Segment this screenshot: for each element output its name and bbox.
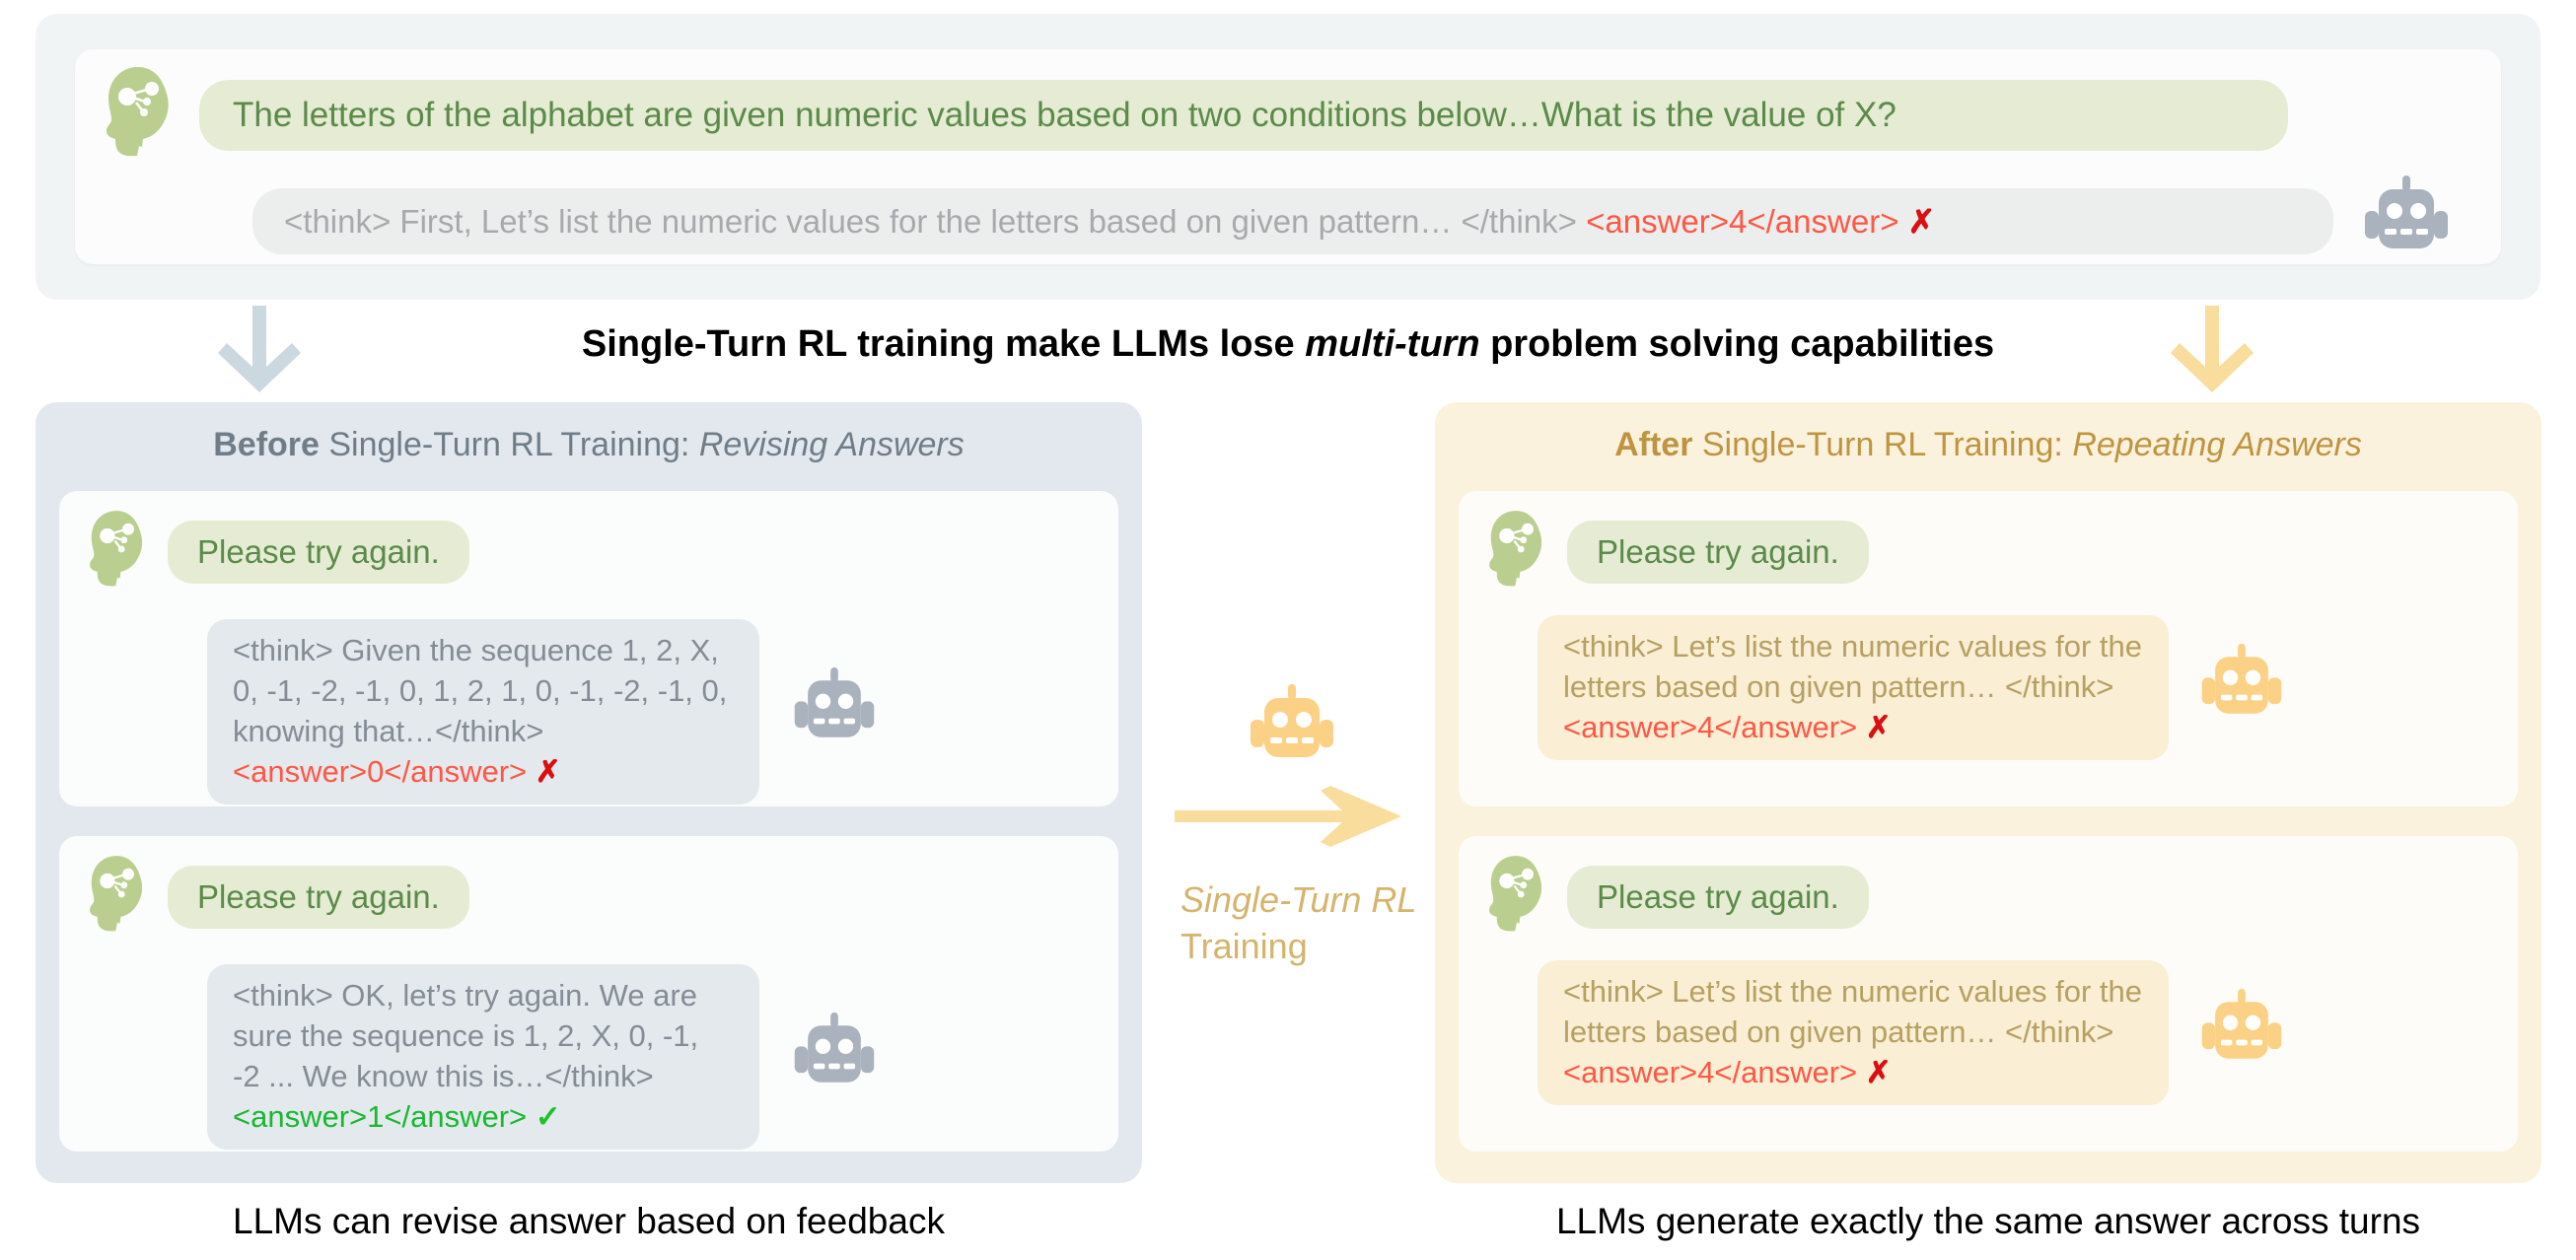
panel-after-title-italic: Repeating Answers — [2072, 426, 2362, 463]
conversation-card: Please try again. <think> Let’s list the… — [1459, 836, 2518, 1152]
bot-think: <think> Let’s list the numeric values fo… — [1563, 629, 2142, 704]
arrow-right-icon — [1159, 786, 1425, 852]
robot-icon — [2359, 172, 2454, 271]
head-network-icon — [1484, 509, 1549, 595]
bot-turn: <think> Let’s list the numeric values fo… — [1538, 615, 2287, 760]
top-user-turn: The letters of the alphabet are given nu… — [101, 65, 2288, 165]
banner-emphasis: multi-turn — [1305, 323, 1479, 365]
training-label: Single-Turn RL Training — [1159, 877, 1425, 970]
bot-message: <think> Given the sequence 1, 2, X, 0, -… — [207, 619, 759, 805]
bot-answer: <answer>4</answer> — [1563, 710, 1857, 744]
robot-icon — [789, 1009, 880, 1104]
robot-icon — [2196, 985, 2287, 1081]
bot-message: <think> Let’s list the numeric values fo… — [1538, 960, 2169, 1105]
user-turn: Please try again. — [1484, 854, 1869, 940]
wrong-mark-icon: ✗ — [1866, 1055, 1892, 1089]
panel-after-title: After Single-Turn RL Training: Repeating… — [1435, 426, 2541, 464]
head-network-icon — [85, 854, 150, 940]
conversation-card: Please try again. <think> Given the sequ… — [59, 491, 1118, 806]
wrong-mark-icon: ✗ — [536, 754, 561, 789]
robot-icon — [789, 664, 880, 759]
banner-part2: problem solving capabilities — [1480, 323, 1995, 365]
bot-message: <think> Let’s list the numeric values fo… — [1538, 615, 2169, 760]
top-user-message: The letters of the alphabet are given nu… — [199, 80, 2288, 151]
user-message: Please try again. — [168, 521, 469, 584]
user-message: Please try again. — [1567, 521, 1869, 584]
robot-icon — [1245, 762, 1339, 779]
wrong-mark-icon: ✗ — [1908, 203, 1936, 240]
bot-think: <think> OK, let’s try again. We are sure… — [233, 978, 698, 1093]
panel-after-training: After Single-Turn RL Training: Repeating… — [1435, 402, 2541, 1183]
top-bot-answer: <answer>4</answer> — [1586, 203, 1898, 240]
head-network-icon — [101, 65, 178, 165]
top-bot-turn: <think> First, Let’s list the numeric va… — [252, 172, 2454, 271]
top-bot-message: <think> First, Let’s list the numeric va… — [252, 188, 2333, 254]
banner-part1: Single-Turn RL training make LLMs lose — [582, 323, 1305, 365]
caption-after: LLMs generate exactly the same answer ac… — [1435, 1201, 2541, 1242]
robot-icon — [2196, 640, 2287, 735]
head-network-icon — [1484, 854, 1549, 940]
top-conversation-card: The letters of the alphabet are given nu… — [75, 49, 2501, 264]
bot-message: <think> OK, let’s try again. We are sure… — [207, 964, 759, 1150]
training-label-rest: Training — [1181, 926, 1308, 966]
bot-answer: <answer>1</answer> — [233, 1099, 527, 1134]
user-turn: Please try again. — [1484, 509, 1869, 595]
correct-mark-icon: ✓ — [536, 1099, 561, 1134]
user-message: Please try again. — [1567, 866, 1869, 929]
bot-answer: <answer>4</answer> — [1563, 1055, 1857, 1089]
bot-turn: <think> Given the sequence 1, 2, X, 0, -… — [207, 619, 880, 805]
user-turn: Please try again. — [85, 509, 469, 595]
panel-before-title-italic: Revising Answers — [699, 426, 965, 463]
top-bot-think: <think> First, Let’s list the numeric va… — [284, 203, 1577, 240]
panel-before-title-bold: Before — [213, 426, 320, 463]
caption-before: LLMs can revise answer based on feedback — [36, 1201, 1142, 1242]
conversation-card: Please try again. <think> Let’s list the… — [1459, 491, 2518, 806]
panel-before-title: Before Single-Turn RL Training: Revising… — [36, 426, 1142, 464]
bot-turn: <think> OK, let’s try again. We are sure… — [207, 964, 880, 1150]
bot-turn: <think> Let’s list the numeric values fo… — [1538, 960, 2287, 1105]
panel-after-title-bold: After — [1614, 426, 1692, 463]
user-message: Please try again. — [168, 866, 469, 929]
panel-before-title-rest: Single-Turn RL Training: — [320, 426, 699, 463]
head-network-icon — [85, 509, 150, 595]
training-label-italic: Single-Turn RL — [1181, 879, 1416, 920]
user-turn: Please try again. — [85, 854, 469, 940]
banner-headline: Single-Turn RL training make LLMs lose m… — [0, 323, 2576, 366]
training-transition-block: Single-Turn RL Training — [1159, 680, 1425, 970]
panel-before-training: Before Single-Turn RL Training: Revising… — [36, 402, 1142, 1183]
conversation-card: Please try again. <think> OK, let’s try … — [59, 836, 1118, 1152]
bot-answer: <answer>0</answer> — [233, 754, 527, 789]
bot-think: <think> Let’s list the numeric values fo… — [1563, 974, 2142, 1049]
top-conversation-panel: The letters of the alphabet are given nu… — [36, 14, 2540, 300]
wrong-mark-icon: ✗ — [1866, 710, 1892, 744]
panel-after-title-rest: Single-Turn RL Training: — [1692, 426, 2072, 463]
bot-think: <think> Given the sequence 1, 2, X, 0, -… — [233, 633, 727, 748]
